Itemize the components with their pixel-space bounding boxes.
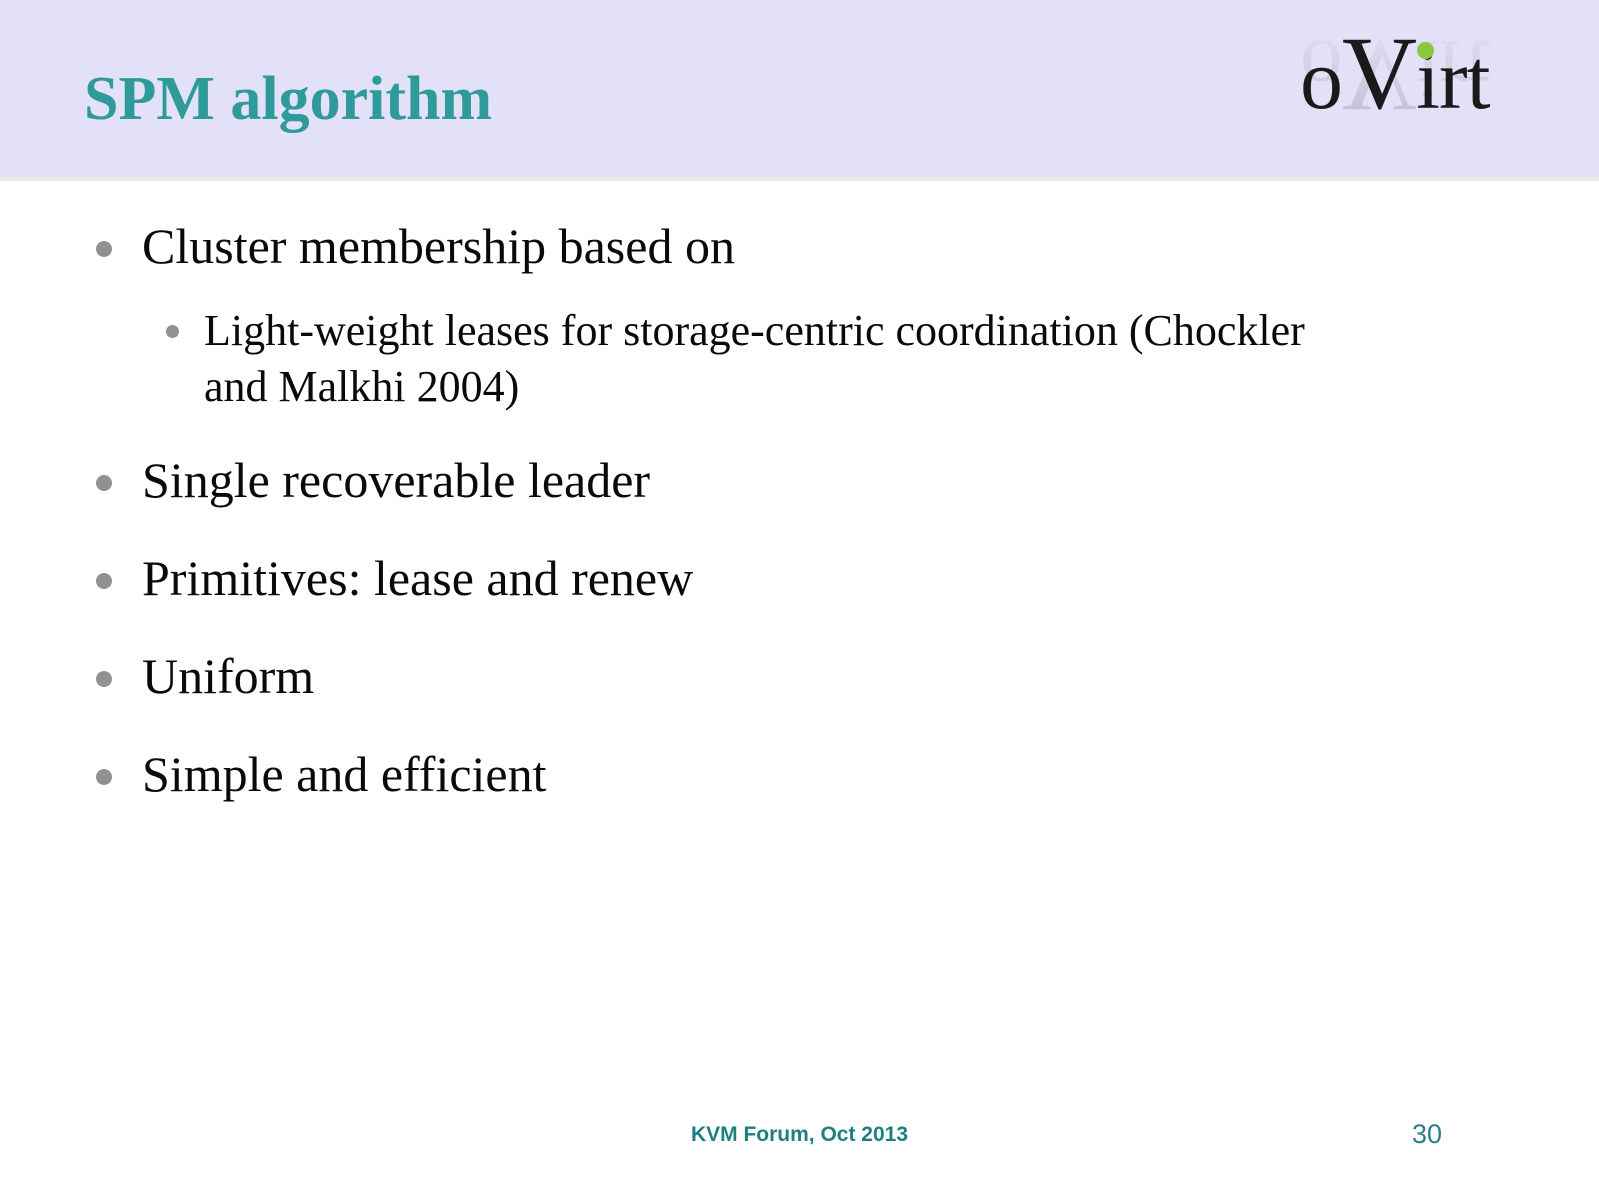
bullet-text: Primitives: lease and renew bbox=[142, 547, 693, 609]
bullet-dot-icon bbox=[96, 769, 112, 785]
bullet-item-level1: Uniform bbox=[96, 609, 1599, 707]
slide-body: Cluster membership based on Light-weight… bbox=[0, 181, 1599, 1081]
bullet-item-level2: Light-weight leases for storage-centric … bbox=[166, 277, 1599, 415]
bullet-dot-icon bbox=[96, 475, 112, 491]
bullet-dot-icon bbox=[166, 325, 179, 338]
page-title: SPM algorithm bbox=[84, 62, 492, 136]
logo-green-dot-icon bbox=[1417, 42, 1434, 59]
footer-note: KVM Forum, Oct 2013 bbox=[0, 1122, 1599, 1148]
bullet-item-level1: Single recoverable leader bbox=[96, 415, 1599, 511]
logo-letter-v: V bbox=[1342, 16, 1416, 131]
ovirt-logo: oVirt oVirt bbox=[1300, 26, 1540, 176]
bullet-dot-icon bbox=[96, 573, 112, 589]
page-number: 30 bbox=[1412, 1118, 1472, 1150]
logo-letter-o: o bbox=[1300, 31, 1342, 127]
slide: SPM algorithm oVirt oVirt Cluster member… bbox=[0, 0, 1599, 1199]
bullet-dot-icon bbox=[96, 671, 112, 687]
bullet-text: Uniform bbox=[142, 645, 314, 707]
bullet-text: Cluster membership based on bbox=[142, 215, 735, 277]
bullet-item-level1: Primitives: lease and renew bbox=[96, 511, 1599, 609]
bullet-dot-icon bbox=[96, 241, 112, 257]
bullet-text: Light-weight leases for storage-centric … bbox=[204, 303, 1324, 415]
slide-header-band: SPM algorithm oVirt oVirt bbox=[0, 0, 1599, 181]
ovirt-logo-wordmark: oVirt bbox=[1300, 26, 1540, 127]
bullet-item-level1: Cluster membership based on bbox=[96, 181, 1599, 277]
bullet-item-level1: Simple and efficient bbox=[96, 707, 1599, 805]
bullet-text: Simple and efficient bbox=[142, 743, 547, 805]
bullet-text: Single recoverable leader bbox=[142, 449, 650, 511]
